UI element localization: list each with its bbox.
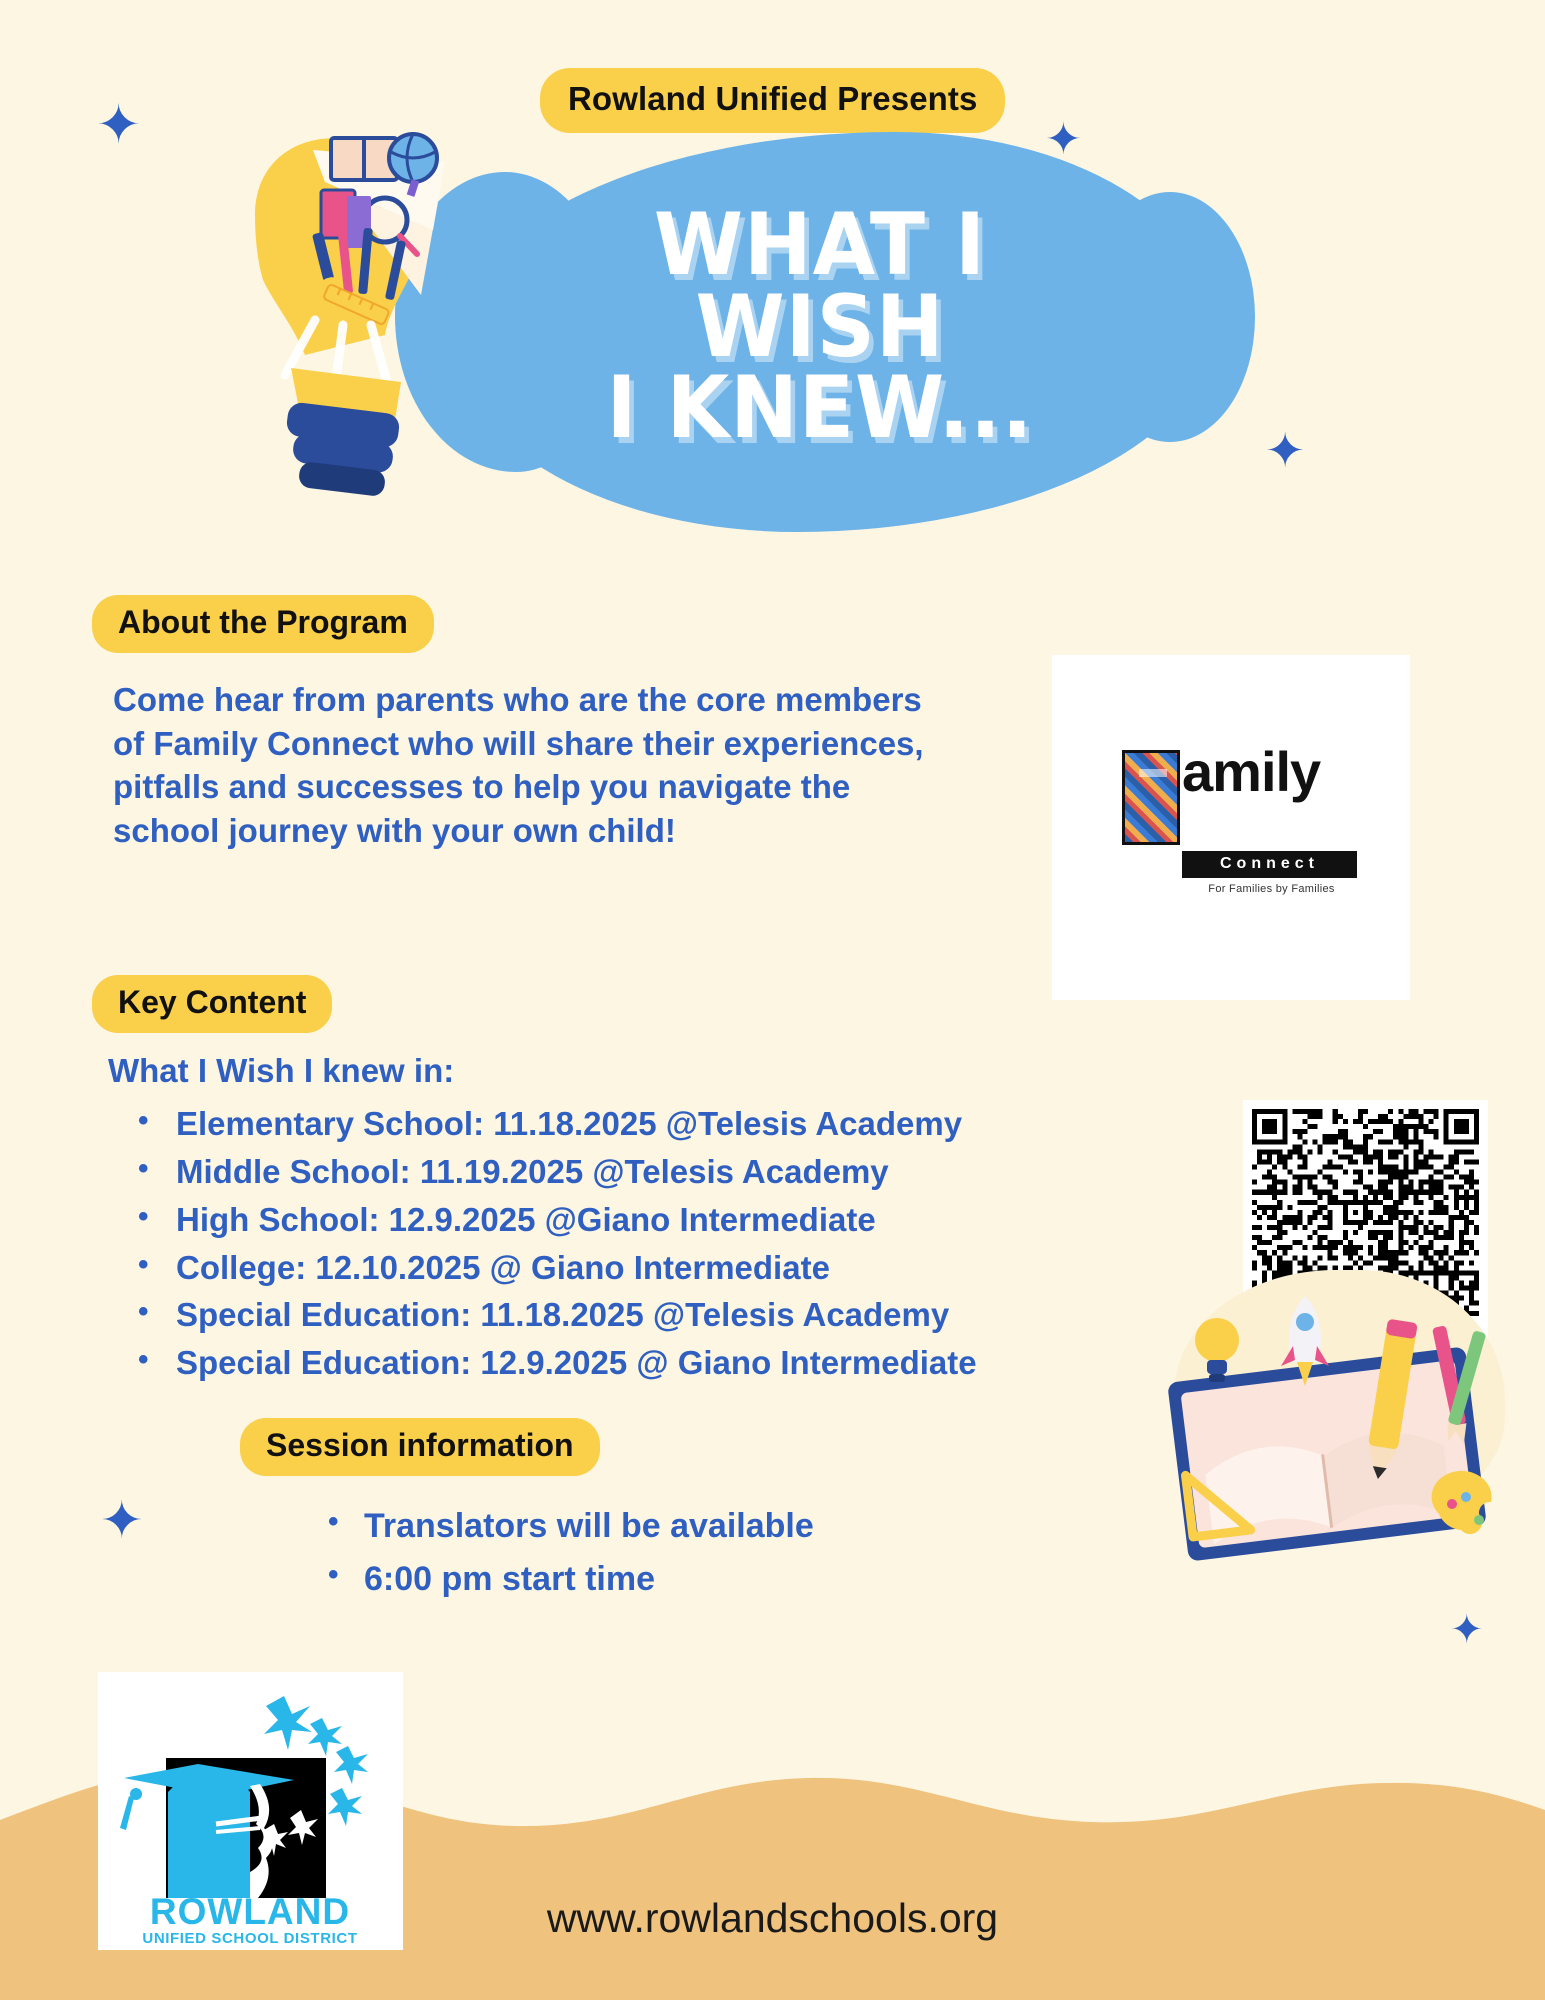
key-content-item: Special Education: 11.18.2025 @Telesis A… [130, 1291, 1220, 1339]
session-info-list: Translators will be available6:00 pm sta… [320, 1500, 814, 1605]
key-content-item: Special Education: 12.9.2025 @ Giano Int… [130, 1339, 1220, 1387]
footer-website-url[interactable]: www.rowlandschools.org [0, 1895, 1545, 1942]
key-content-list: Elementary School: 11.18.2025 @Telesis A… [130, 1100, 1220, 1387]
lightbulb-supplies-illustration [195, 120, 515, 520]
key-content-lead: What I Wish I knew in: [108, 1052, 454, 1090]
open-book-supplies-illustration [1155, 1290, 1515, 1570]
page-title: WHAT I WISH I KNEW... [519, 205, 1121, 450]
sparkle-icon: ✦ [100, 1495, 144, 1547]
poster-canvas: ✦ ✦ ✦ ✦ ✦ Rowland Unified Presents [0, 0, 1545, 2000]
key-content-item: Middle School: 11.19.2025 @Telesis Acade… [130, 1148, 1220, 1196]
about-body-text: Come hear from parents who are the core … [113, 678, 943, 852]
key-content-item: College: 12.10.2025 @ Giano Intermediate [130, 1244, 1220, 1292]
family-connect-logo: amily Connect For Families by Families [1052, 655, 1410, 1000]
session-info-item: Translators will be available [320, 1500, 814, 1553]
sparkle-icon: ✦ [1450, 1610, 1484, 1650]
section-heading-key-content: Key Content [92, 975, 332, 1033]
family-connect-e-mark [1122, 750, 1180, 845]
session-info-item: 6:00 pm start time [320, 1553, 814, 1606]
key-content-item: Elementary School: 11.18.2025 @Telesis A… [130, 1100, 1220, 1148]
page-title-line2: I KNEW... [519, 368, 1121, 450]
section-heading-session: Session information [240, 1418, 600, 1476]
key-content-item: High School: 12.9.2025 @Giano Intermedia… [130, 1196, 1220, 1244]
family-connect-subword: Connect [1182, 851, 1357, 878]
presents-banner: Rowland Unified Presents [540, 68, 1005, 133]
family-connect-tagline: For Families by Families [1184, 883, 1359, 895]
section-heading-about: About the Program [92, 595, 434, 653]
sparkle-icon: ✦ [96, 98, 141, 152]
family-connect-wordmark: amily [1182, 750, 1320, 794]
sparkle-icon: ✦ [1265, 428, 1305, 476]
page-title-line1: WHAT I WISH [654, 195, 986, 377]
